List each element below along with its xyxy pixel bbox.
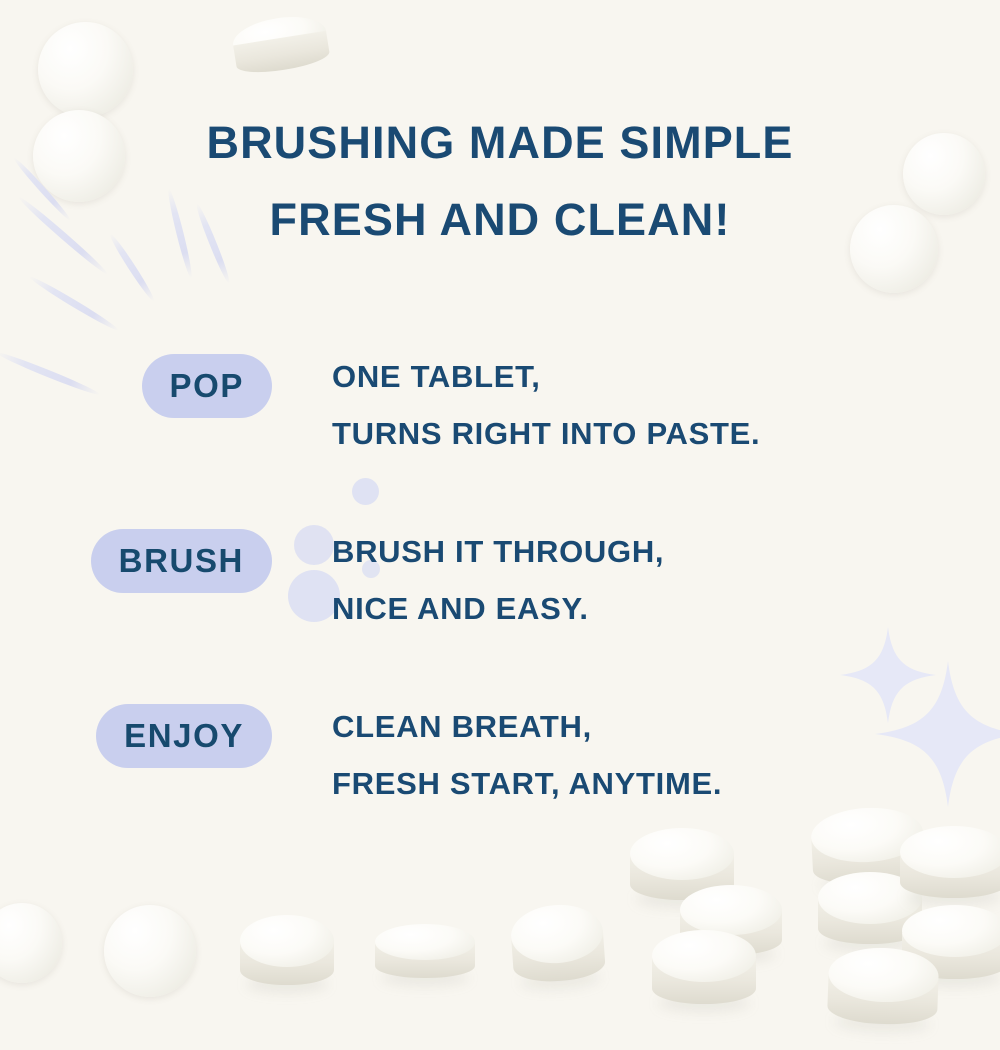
step-badge-brush[interactable]: BRUSH (91, 529, 272, 593)
badge-column-pop: POP (0, 340, 272, 418)
tablet-bottom-3 (240, 915, 334, 993)
step-text-pop: ONE TABLET, TURNS RIGHT INTO PASTE. (272, 340, 760, 462)
badge-column-enjoy: ENJOY (0, 690, 272, 768)
tablet-top-left-upper (38, 22, 133, 117)
badge-column-brush: BRUSH (0, 515, 272, 593)
step-badge-pop[interactable]: POP (142, 354, 273, 418)
step-text-pop-line-2: TURNS RIGHT INTO PASTE. (332, 405, 760, 462)
step-text-enjoy-line-1: CLEAN BREATH, (332, 698, 722, 755)
step-text-enjoy-line-2: FRESH START, ANYTIME. (332, 755, 722, 812)
tablet-bottom-2 (104, 905, 196, 997)
tablet-cluster-3 (652, 930, 756, 1014)
tablet-bottom-4 (375, 924, 475, 986)
sparkle-ray-2 (28, 274, 121, 334)
step-item-enjoy: ENJOY CLEAN BREATH, FRESH START, ANYTIME… (0, 690, 1000, 865)
tablet-cluster-8 (827, 946, 940, 1036)
step-text-brush-line-1: BRUSH IT THROUGH, (332, 523, 664, 580)
tablet-top-center-tilted (230, 11, 332, 83)
headline-line-2: FRESH AND CLEAN! (0, 181, 1000, 258)
step-text-brush: BRUSH IT THROUGH, NICE AND EASY. (272, 515, 664, 637)
step-text-brush-line-2: NICE AND EASY. (332, 580, 664, 637)
headline-line-1: BRUSHING MADE SIMPLE (206, 117, 793, 168)
page-title: BRUSHING MADE SIMPLE FRESH AND CLEAN! (0, 104, 1000, 258)
step-text-pop-line-1: ONE TABLET, (332, 348, 760, 405)
step-badge-enjoy[interactable]: ENJOY (96, 704, 272, 768)
steps-list: POP ONE TABLET, TURNS RIGHT INTO PASTE. … (0, 340, 1000, 865)
poster-canvas: BRUSHING MADE SIMPLE FRESH AND CLEAN! PO… (0, 0, 1000, 1050)
step-item-brush: BRUSH BRUSH IT THROUGH, NICE AND EASY. (0, 515, 1000, 690)
tablet-bottom-5 (509, 902, 607, 994)
tablet-bottom-1 (0, 903, 62, 983)
tablet-cluster-7 (902, 905, 1000, 989)
tablet-cluster-5 (818, 872, 922, 954)
step-item-pop: POP ONE TABLET, TURNS RIGHT INTO PASTE. (0, 340, 1000, 515)
tablet-cluster-2 (680, 885, 782, 965)
step-text-enjoy: CLEAN BREATH, FRESH START, ANYTIME. (272, 690, 722, 812)
